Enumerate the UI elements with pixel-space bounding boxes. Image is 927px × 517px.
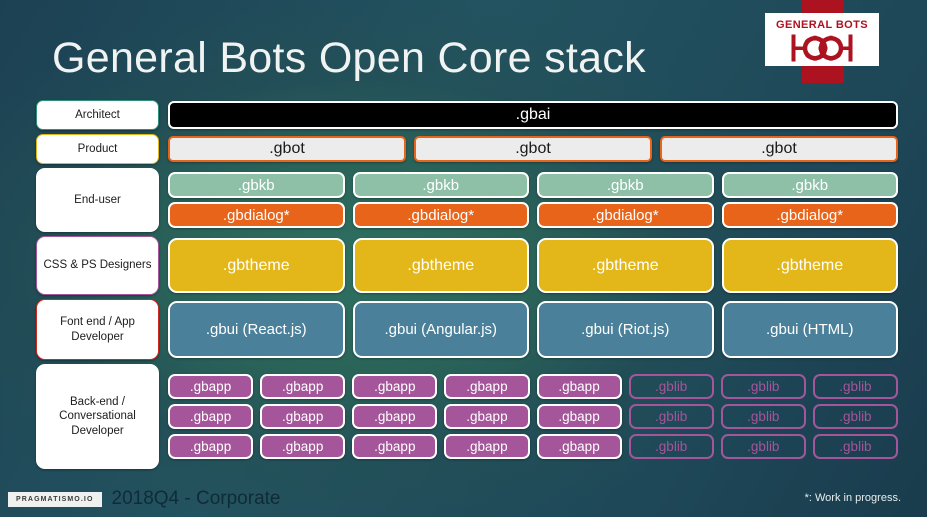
chip-gbkb[interactable]: .gbkb bbox=[722, 172, 899, 198]
logo-brand-text: GENERAL BOTS bbox=[765, 19, 879, 31]
row-enduser: End-user .gbkb .gbkb .gbkb .gbkb .gbdial… bbox=[36, 168, 898, 232]
role-label-designers: CSS & PS Designers bbox=[36, 236, 159, 295]
chip-gbot[interactable]: .gbot bbox=[168, 136, 406, 162]
enduser-bars: .gbkb .gbkb .gbkb .gbkb .gbdialog* .gbdi… bbox=[168, 168, 898, 232]
chip-gblib[interactable]: .gblib bbox=[813, 404, 898, 429]
backend-microrow: .gbapp .gbapp .gbapp .gbapp .gbapp .gbli… bbox=[168, 374, 898, 399]
chip-gbdialog[interactable]: .gbdialog* bbox=[537, 202, 714, 228]
footer-caption: 2018Q4 - Corporate bbox=[112, 488, 281, 510]
chip-gbtheme[interactable]: .gbtheme bbox=[353, 238, 530, 293]
chip-gblib[interactable]: .gblib bbox=[813, 374, 898, 399]
chip-gbtheme[interactable]: .gbtheme bbox=[168, 238, 345, 293]
chip-gbapp[interactable]: .gbapp bbox=[168, 404, 253, 429]
page-title: General Bots Open Core stack bbox=[52, 34, 646, 83]
gbdialog-barline: .gbdialog* .gbdialog* .gbdialog* .gbdial… bbox=[168, 202, 898, 228]
chip-gbapp[interactable]: .gbapp bbox=[537, 374, 622, 399]
chip-gbtheme[interactable]: .gbtheme bbox=[722, 238, 899, 293]
footnote-work-in-progress: *: Work in progress. bbox=[805, 492, 901, 504]
row-backend: Back-end / Conversational Developer .gba… bbox=[36, 364, 898, 469]
chip-gbapp[interactable]: .gbapp bbox=[537, 404, 622, 429]
chip-gbapp[interactable]: .gbapp bbox=[352, 404, 437, 429]
chip-gbai[interactable]: .gbai bbox=[168, 101, 898, 129]
chip-gbapp[interactable]: .gbapp bbox=[260, 374, 345, 399]
chip-gbapp[interactable]: .gbapp bbox=[168, 374, 253, 399]
product-bars: .gbot .gbot .gbot bbox=[168, 134, 898, 164]
gbkb-barline: .gbkb .gbkb .gbkb .gbkb bbox=[168, 172, 898, 198]
chip-gbapp[interactable]: .gbapp bbox=[537, 434, 622, 459]
chip-gbapp[interactable]: .gbapp bbox=[444, 404, 529, 429]
row-designers: CSS & PS Designers .gbtheme .gbtheme .gb… bbox=[36, 236, 898, 295]
role-label-backend: Back-end / Conversational Developer bbox=[36, 364, 159, 469]
general-bots-logo: GENERAL BOTS bbox=[765, 0, 879, 83]
chip-gbui-angular[interactable]: .gbui (Angular.js) bbox=[353, 301, 530, 358]
role-label-architect: Architect bbox=[36, 100, 159, 130]
chip-gbkb[interactable]: .gbkb bbox=[168, 172, 345, 198]
chip-gbapp[interactable]: .gbapp bbox=[444, 374, 529, 399]
gears-icon bbox=[765, 33, 879, 63]
chip-gblib[interactable]: .gblib bbox=[629, 434, 714, 459]
gbui-barline: .gbui (React.js) .gbui (Angular.js) .gbu… bbox=[168, 301, 898, 358]
chip-gbapp[interactable]: .gbapp bbox=[260, 434, 345, 459]
backend-microrow: .gbapp .gbapp .gbapp .gbapp .gbapp .gbli… bbox=[168, 434, 898, 459]
row-architect: Architect .gbai bbox=[36, 100, 898, 130]
role-label-frontend: Font end / App Developer bbox=[36, 299, 159, 360]
chip-gbapp[interactable]: .gbapp bbox=[352, 434, 437, 459]
chip-gblib[interactable]: .gblib bbox=[813, 434, 898, 459]
chip-gbui-html[interactable]: .gbui (HTML) bbox=[722, 301, 899, 358]
role-label-product: Product bbox=[36, 134, 159, 164]
chip-gblib[interactable]: .gblib bbox=[629, 374, 714, 399]
footer: PRAGMATISMO.IO 2018Q4 - Corporate bbox=[8, 488, 281, 510]
chip-gbapp[interactable]: .gbapp bbox=[168, 434, 253, 459]
architect-barline: .gbai bbox=[168, 101, 898, 129]
gbtheme-barline: .gbtheme .gbtheme .gbtheme .gbtheme bbox=[168, 238, 898, 293]
logo-card: GENERAL BOTS bbox=[765, 13, 879, 66]
chip-gbapp[interactable]: .gbapp bbox=[444, 434, 529, 459]
frontend-bars: .gbui (React.js) .gbui (Angular.js) .gbu… bbox=[168, 299, 898, 360]
architect-bars: .gbai bbox=[168, 100, 898, 130]
chip-gbkb[interactable]: .gbkb bbox=[537, 172, 714, 198]
chip-gblib[interactable]: .gblib bbox=[721, 404, 806, 429]
chip-gbdialog[interactable]: .gbdialog* bbox=[353, 202, 530, 228]
chip-gbui-react[interactable]: .gbui (React.js) bbox=[168, 301, 345, 358]
chip-gbapp[interactable]: .gbapp bbox=[352, 374, 437, 399]
stack-diagram: Architect .gbai Product .gbot .gbot .gbo… bbox=[36, 100, 898, 473]
chip-gblib[interactable]: .gblib bbox=[629, 404, 714, 429]
slide-canvas: General Bots Open Core stack GENERAL BOT… bbox=[0, 0, 927, 517]
role-label-enduser: End-user bbox=[36, 168, 159, 232]
chip-gblib[interactable]: .gblib bbox=[721, 374, 806, 399]
chip-gbdialog[interactable]: .gbdialog* bbox=[722, 202, 899, 228]
backend-bars: .gbapp .gbapp .gbapp .gbapp .gbapp .gbli… bbox=[168, 364, 898, 469]
chip-gbot[interactable]: .gbot bbox=[660, 136, 898, 162]
backend-microgrid: .gbapp .gbapp .gbapp .gbapp .gbapp .gbli… bbox=[168, 374, 898, 459]
backend-microrow: .gbapp .gbapp .gbapp .gbapp .gbapp .gbli… bbox=[168, 404, 898, 429]
chip-gbui-riot[interactable]: .gbui (Riot.js) bbox=[537, 301, 714, 358]
chip-gbot[interactable]: .gbot bbox=[414, 136, 652, 162]
chip-gbdialog[interactable]: .gbdialog* bbox=[168, 202, 345, 228]
designer-bars: .gbtheme .gbtheme .gbtheme .gbtheme bbox=[168, 236, 898, 295]
row-frontend: Font end / App Developer .gbui (React.js… bbox=[36, 299, 898, 360]
pragmatismo-logo: PRAGMATISMO.IO bbox=[8, 492, 102, 507]
row-product: Product .gbot .gbot .gbot bbox=[36, 134, 898, 164]
product-barline: .gbot .gbot .gbot bbox=[168, 136, 898, 162]
chip-gbapp[interactable]: .gbapp bbox=[260, 404, 345, 429]
chip-gbtheme[interactable]: .gbtheme bbox=[537, 238, 714, 293]
chip-gbkb[interactable]: .gbkb bbox=[353, 172, 530, 198]
chip-gblib[interactable]: .gblib bbox=[721, 434, 806, 459]
